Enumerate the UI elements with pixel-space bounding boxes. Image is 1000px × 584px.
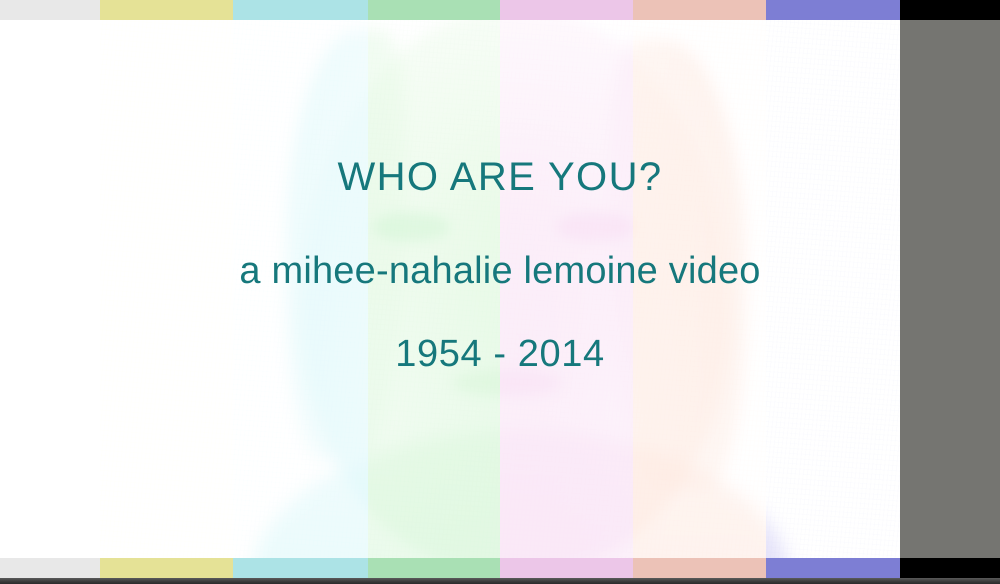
- strip-segment-yellow: [100, 558, 233, 578]
- strip-segment-grey: [900, 558, 1000, 578]
- strip-segment-green: [368, 558, 500, 578]
- color-bar-pink: [500, 0, 633, 584]
- strip-segment-white: [0, 558, 100, 578]
- strip-segment-purple: [766, 558, 900, 578]
- strip-segment-cyan: [233, 0, 368, 20]
- strip-segment-peach: [633, 0, 766, 20]
- strip-segment-peach: [633, 558, 766, 578]
- strip-segment-pink: [500, 0, 633, 20]
- strip-segment-pink: [500, 558, 633, 578]
- color-bars: [0, 0, 1000, 584]
- strip-segment-cyan: [233, 558, 368, 578]
- color-bars-top-strip: [0, 0, 1000, 20]
- letterbox-line: [0, 578, 1000, 584]
- color-bar-yellow: [100, 0, 233, 584]
- color-bar-white: [0, 0, 100, 584]
- strip-segment-yellow: [100, 0, 233, 20]
- strip-segment-green: [368, 0, 500, 20]
- color-bar-cyan: [233, 0, 368, 584]
- color-bar-green: [368, 0, 500, 584]
- strip-segment-white: [0, 0, 100, 20]
- color-bar-grey: [900, 0, 1000, 584]
- color-bar-purple: [766, 0, 900, 584]
- strip-segment-purple: [766, 0, 900, 20]
- color-bar-peach: [633, 0, 766, 584]
- color-bars-bottom-strip: [0, 558, 1000, 578]
- strip-segment-grey: [900, 0, 1000, 20]
- video-frame: WHO ARE YOU? a mihee-nahalie lemoine vid…: [0, 0, 1000, 584]
